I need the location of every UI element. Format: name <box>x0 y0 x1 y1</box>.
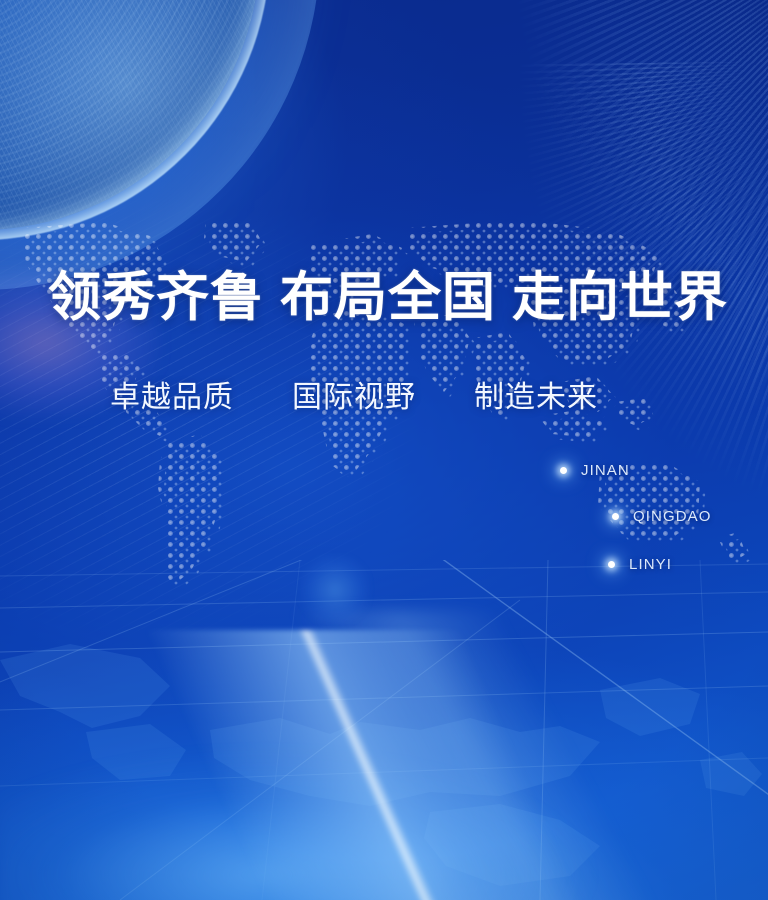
city-label-jinan: JINAN <box>581 462 630 479</box>
city-dot-marker-icon <box>612 513 619 520</box>
subline-part-3: 制造未来 <box>474 381 598 414</box>
city-marker-jinan[interactable]: JINAN <box>560 462 630 479</box>
headline-part-3: 走向世界 <box>512 269 728 327</box>
page-title: 领秀齐鲁布局全国走向世界 <box>48 269 728 328</box>
page-subtitle: 卓越品质国际视野制造未来 <box>110 372 598 416</box>
city-marker-linyi[interactable]: LINYI <box>608 556 672 573</box>
hero-banner: 领秀齐鲁布局全国走向世界 卓越品质国际视野制造未来 JINAN QINGDAO … <box>0 0 768 900</box>
city-dot-marker-icon <box>608 561 615 568</box>
city-label-linyi: LINYI <box>629 556 672 573</box>
headline-part-1: 领秀齐鲁 <box>48 269 264 327</box>
city-label-qingdao: QINGDAO <box>633 508 712 525</box>
subline-part-2: 国际视野 <box>292 381 416 414</box>
city-marker-qingdao[interactable]: QINGDAO <box>612 508 712 525</box>
headline-part-2: 布局全国 <box>280 269 496 327</box>
subline-part-1: 卓越品质 <box>110 381 234 414</box>
city-dot-marker-icon <box>560 467 567 474</box>
